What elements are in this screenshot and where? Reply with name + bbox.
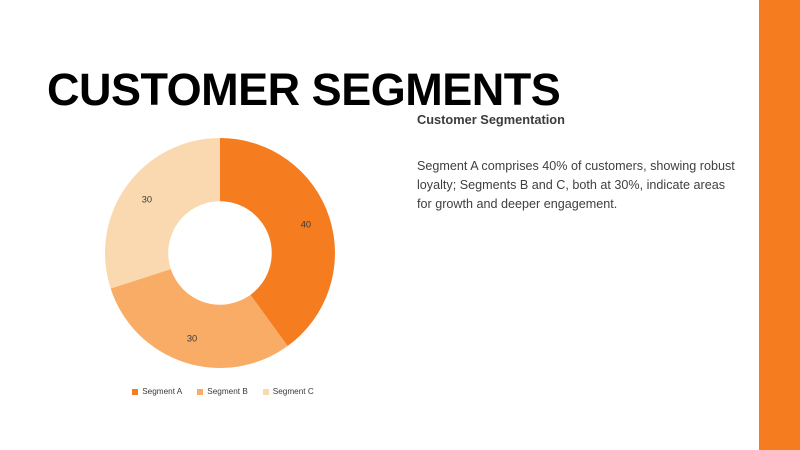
donut-chart: 403030 Segment ASegment BSegment C xyxy=(58,130,388,415)
text-panel: Customer Segmentation Segment A comprise… xyxy=(417,112,737,214)
donut-slice-label: 30 xyxy=(142,194,152,204)
text-panel-body: Segment A comprises 40% of customers, sh… xyxy=(417,157,737,215)
slide-canvas: CUSTOMER SEGMENTS Customer Segmentation … xyxy=(0,0,800,450)
legend-item[interactable]: Segment B xyxy=(197,388,248,396)
legend-item[interactable]: Segment A xyxy=(132,388,182,396)
text-panel-heading: Customer Segmentation xyxy=(417,112,737,129)
page-title: CUSTOMER SEGMENTS xyxy=(47,66,737,113)
donut-slice-label: 30 xyxy=(187,333,197,343)
legend-swatch-icon xyxy=(263,389,269,395)
right-accent-bar xyxy=(759,0,800,450)
legend-item-label: Segment C xyxy=(273,388,314,396)
chart-legend: Segment ASegment BSegment C xyxy=(58,388,388,396)
legend-item-label: Segment B xyxy=(207,388,248,396)
donut-slice[interactable] xyxy=(105,138,220,289)
donut-slices xyxy=(105,138,335,368)
donut-chart-svg: 403030 xyxy=(105,138,335,368)
legend-item[interactable]: Segment C xyxy=(263,388,314,396)
legend-item-label: Segment A xyxy=(142,388,182,396)
legend-swatch-icon xyxy=(197,389,203,395)
legend-swatch-icon xyxy=(132,389,138,395)
donut-slice[interactable] xyxy=(111,269,288,368)
donut-slice-label: 40 xyxy=(301,220,311,230)
donut-chart-plot: 403030 xyxy=(105,138,335,368)
